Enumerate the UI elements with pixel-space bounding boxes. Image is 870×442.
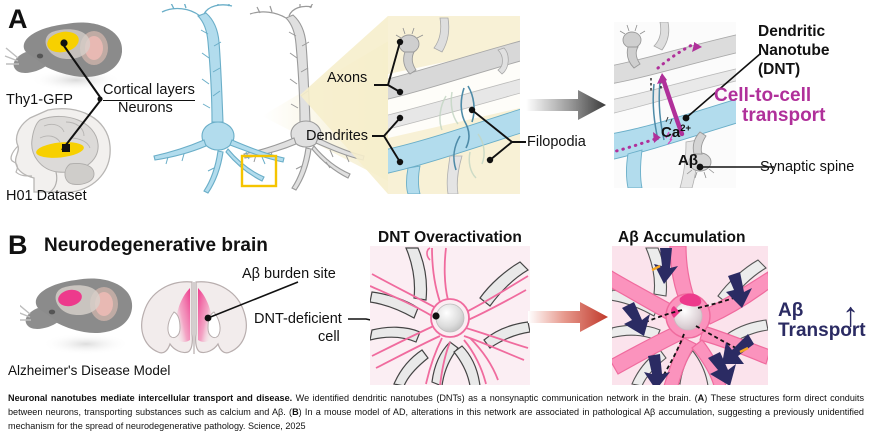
figure-root: A [0,0,870,442]
label-dendrites: Dendrites [306,128,368,145]
label-synaptic-spine: Synaptic spine [760,159,854,176]
mouse-head-ad-model-illustration [20,272,140,360]
gray-transition-arrow [524,88,608,122]
figure-caption: Neuronal nanotubes mediate intercellular… [8,392,864,433]
caption-body-1: We identified dendritic nanotubes (DNTs)… [292,393,697,403]
dnt-overactivation-network-image [370,246,530,386]
red-transition-arrow [526,300,612,334]
label-dendritic-nanotube-line1: Dendritic [758,22,825,41]
abeta-accumulation-network-image [612,246,768,386]
panel-title-abeta-accumulation: Aβ Accumulation [618,229,745,247]
label-axons: Axons [327,70,367,87]
caption-lead: Neuronal nanotubes mediate intercellular… [8,393,292,403]
label-dnt-deficient-line1: DNT-deficient [254,311,342,328]
panel-a-closeup-pointers [300,20,560,190]
label-calcium-text: Ca [661,124,680,141]
label-calcium-charge: 2+ [680,123,691,134]
label-filopodia: Filopodia [527,134,586,151]
label-dnt-deficient-line2: cell [318,329,340,346]
caption-tag-b: B [292,407,299,417]
label-alzheimers-disease-model: Alzheimer's Disease Model [8,363,170,379]
panel-b-letter: B [8,232,27,259]
panel-title-dnt-overactivation: DNT Overactivation [378,229,522,247]
abeta-transport-up-arrow-icon: ↑ [842,298,859,332]
label-abeta-burden-site: Aβ burden site [242,266,336,283]
caption-separator [0,385,870,386]
label-abeta-transport-line1: Aβ [778,300,803,321]
label-calcium: Ca2+ [661,124,691,141]
panel-b-title: Neurodegenerative brain [44,235,268,257]
label-cell-to-cell-transport-line2: transport [742,106,825,127]
label-cell-to-cell-transport-line1: Cell-to-cell [714,86,811,107]
